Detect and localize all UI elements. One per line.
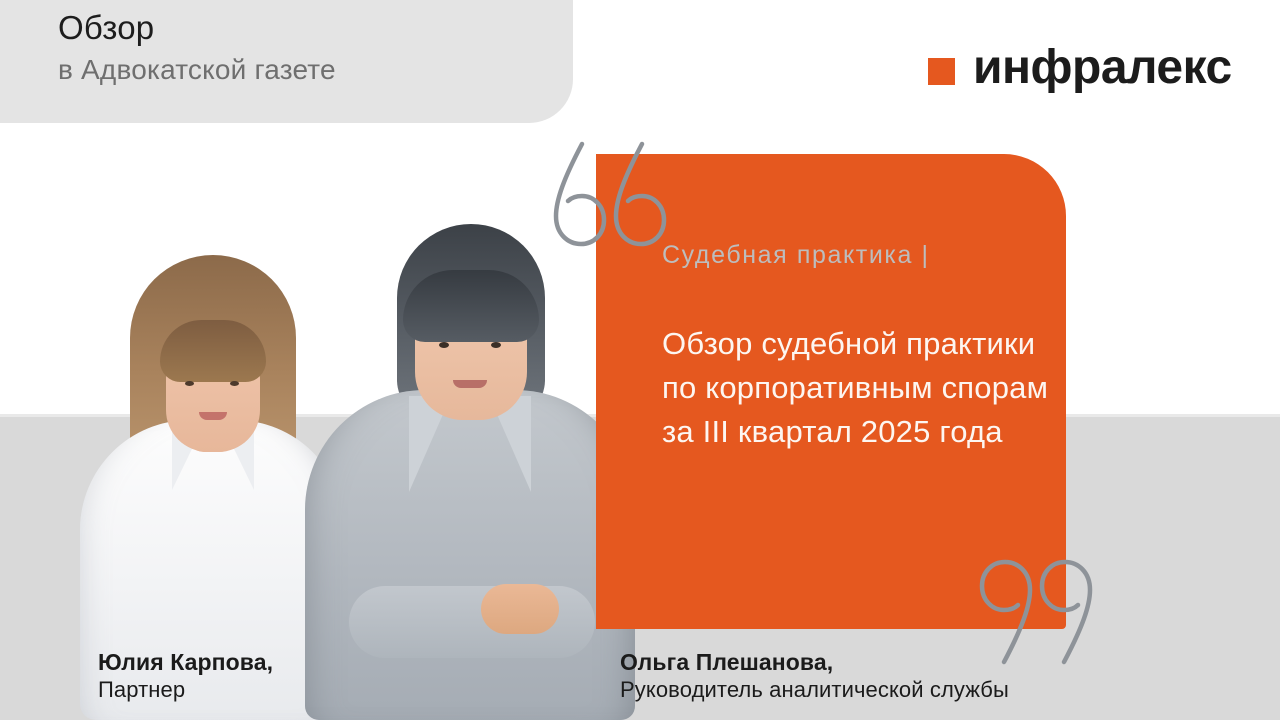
page-subtitle: в Адвокатской газете xyxy=(58,52,336,88)
logo-square-icon xyxy=(928,58,955,85)
speaker-name: Юлия Карпова, xyxy=(98,648,273,676)
speaker-caption-2: Ольга Плешанова, Руководитель аналитичес… xyxy=(620,648,1009,704)
hair-fringe xyxy=(403,270,539,342)
speaker-role: Партнер xyxy=(98,676,273,704)
page-title: Обзор xyxy=(58,8,154,48)
brand-logo: инфралекс xyxy=(928,44,1232,92)
hair-fringe xyxy=(160,320,266,382)
eye-left xyxy=(185,381,194,386)
eye-right xyxy=(230,381,239,386)
logo-wordmark: инфралекс xyxy=(973,44,1232,92)
speaker-role: Руководитель аналитической службы xyxy=(620,676,1009,704)
header-banner: Обзор в Адвокатской газете xyxy=(0,0,573,123)
card-title: Обзор судебной практики по корпоративным… xyxy=(662,322,1052,454)
speaker-name: Ольга Плешанова, xyxy=(620,648,1009,676)
gray-jacket xyxy=(305,390,635,720)
speaker-caption-1: Юлия Карпова, Партнер xyxy=(98,648,273,704)
hand xyxy=(481,584,559,634)
presentation-slide: Обзор в Адвокатской газете инфралекс xyxy=(0,0,1280,720)
crossed-arms xyxy=(349,586,595,658)
eye-right xyxy=(491,342,501,348)
mouth xyxy=(453,380,487,388)
open-quote-icon xyxy=(548,138,678,250)
mouth xyxy=(199,412,227,420)
card-eyebrow: Судебная практика | xyxy=(662,240,930,270)
eye-left xyxy=(439,342,449,348)
